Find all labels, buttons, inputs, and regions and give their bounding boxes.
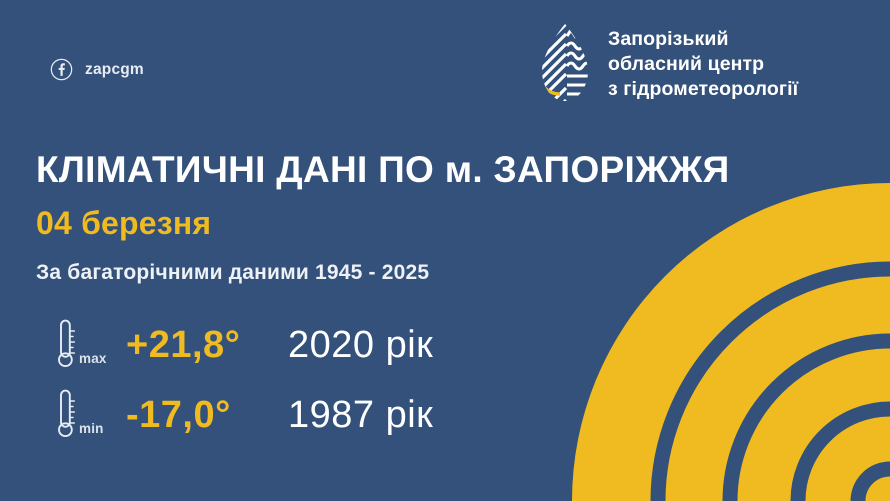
record-row-min: min -17,0° 1987 рік: [36, 380, 836, 450]
record-year-min: 1987 рік: [288, 396, 433, 434]
page-title: КЛІМАТИЧНІ ДАНІ ПО м. ЗАПОРІЖЖЯ: [36, 148, 836, 192]
thermometer-icon: [52, 319, 77, 371]
record-label-max: max: [79, 352, 107, 372]
brand-line-3: з гідрометеорології: [608, 77, 798, 102]
water-droplet-logo-icon: [534, 22, 596, 106]
period-label: За багаторічними даними 1945 - 2025: [36, 259, 836, 286]
facebook-link[interactable]: zapcgm: [50, 58, 144, 81]
facebook-handle: zapcgm: [85, 62, 144, 78]
brand-name: Запорізький обласний центр з гідрометеор…: [608, 22, 798, 102]
thermometer-min: min: [36, 389, 126, 441]
record-value-min: -17,0°: [126, 396, 288, 434]
record-row-max: max +21,8° 2020 рік: [36, 310, 836, 380]
record-year-max: 2020 рік: [288, 326, 433, 364]
main-content: КЛІМАТИЧНІ ДАНІ ПО м. ЗАПОРІЖЖЯ 04 берез…: [36, 148, 836, 450]
climate-data-card: zapcgm: [0, 0, 890, 501]
temperature-records: max +21,8° 2020 рік: [36, 310, 836, 450]
date-label: 04 березня: [36, 203, 836, 243]
record-label-min: min: [79, 422, 104, 442]
record-value-max: +21,8°: [126, 326, 288, 364]
brand-lockup: Запорізький обласний центр з гідрометеор…: [534, 22, 798, 106]
thermometer-max: max: [36, 319, 126, 371]
thermometer-icon: [52, 389, 77, 441]
brand-line-2: обласний центр: [608, 52, 798, 77]
header: zapcgm: [0, 0, 890, 128]
facebook-icon[interactable]: [50, 58, 73, 81]
brand-line-1: Запорізький: [608, 27, 798, 52]
